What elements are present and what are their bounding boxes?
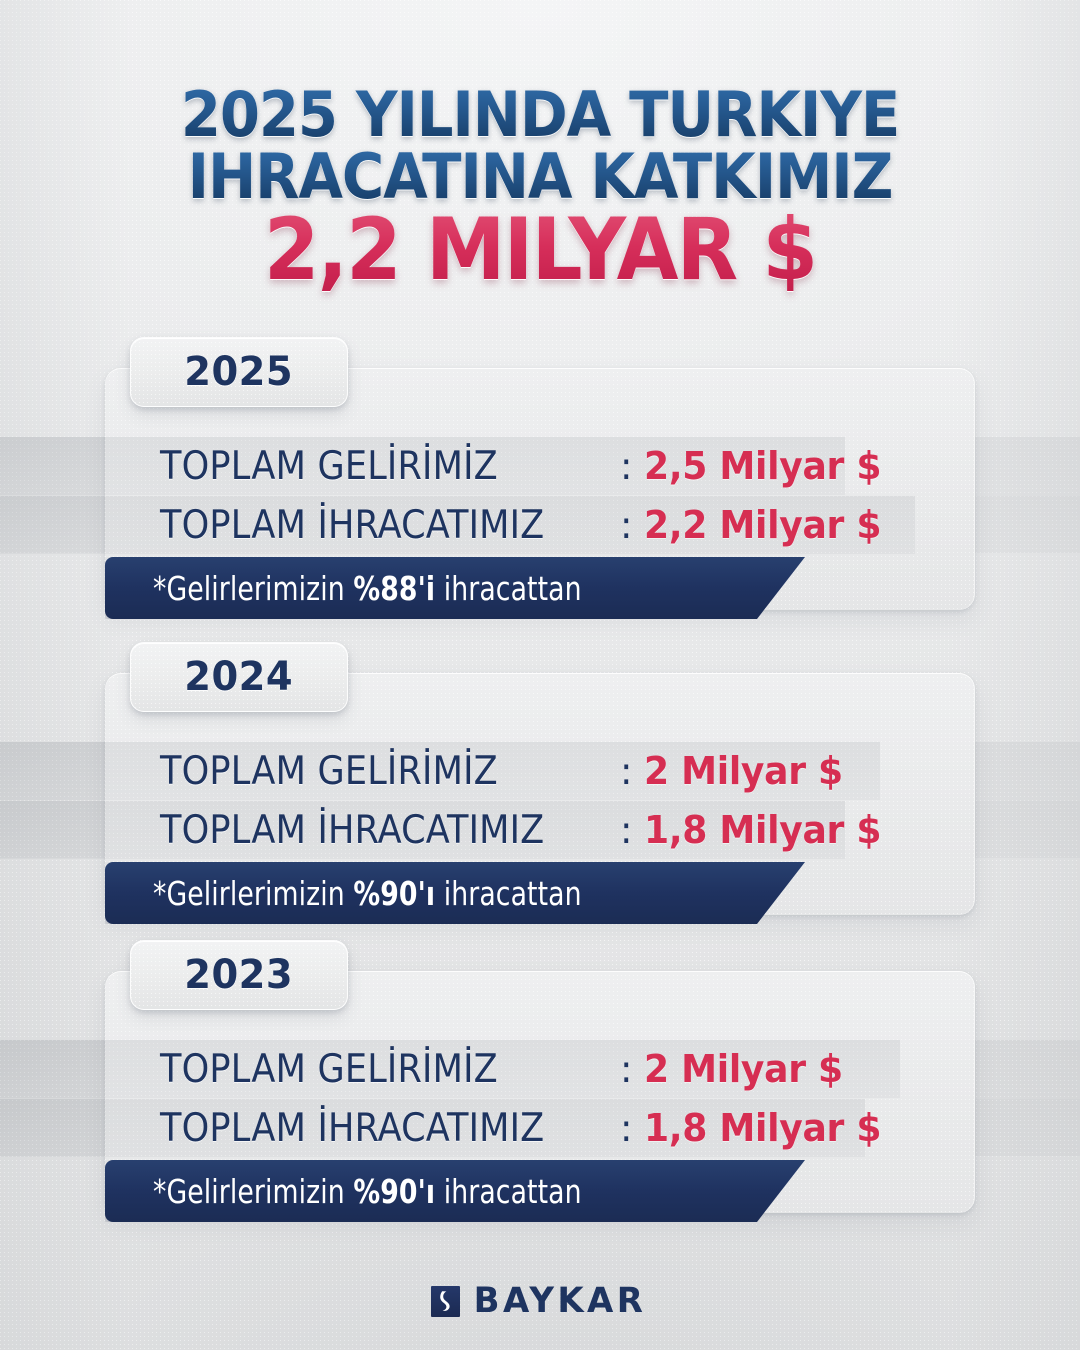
footnote-suffix: ihracattan	[435, 874, 582, 913]
row-value: 1,8 Milyar $	[644, 1106, 881, 1150]
headline-amount: 2,2 MİLYAR $	[82, 211, 997, 291]
footnote-prefix: *Gelirlerimizin	[153, 569, 353, 608]
table-row: TOPLAM GELİRİMİZ : 2 Milyar $	[0, 742, 1080, 800]
footnote-text: *Gelirlerimizin %90'ı ihracattan	[153, 874, 582, 913]
table-row: TOPLAM İHRACATIMIZ : 2,2 Milyar $	[0, 496, 1080, 554]
year-tab-2023: 2023	[130, 940, 348, 1010]
row-value: 1,8 Milyar $	[644, 808, 881, 852]
row-colon: :	[620, 1107, 632, 1150]
row-colon: :	[620, 1048, 632, 1091]
row-label: TOPLAM GELİRİMİZ	[160, 444, 498, 489]
footnote-prefix: *Gelirlerimizin	[153, 874, 353, 913]
row-value: 2,5 Milyar $	[644, 444, 881, 488]
footnote-text: *Gelirlerimizin %88'i ihracattan	[153, 569, 582, 608]
row-colon: :	[620, 504, 632, 547]
headline-line-2: İHRACATINA KATKIMIZ	[82, 148, 997, 206]
row-label: TOPLAM GELİRİMİZ	[160, 1047, 498, 1092]
footnote-text: *Gelirlerimizin %90'ı ihracattan	[153, 1172, 582, 1211]
footnote-suffix: ihracattan	[435, 1172, 582, 1211]
footnote-highlight: %90'ı	[353, 1172, 435, 1211]
footnote-highlight: %88'i	[353, 569, 435, 608]
brand-name: BAYKAR	[474, 1281, 647, 1321]
table-row: TOPLAM İHRACATIMIZ : 1,8 Milyar $	[0, 801, 1080, 859]
table-row: TOPLAM GELİRİMİZ : 2 Milyar $	[0, 1040, 1080, 1098]
row-label: TOPLAM GELİRİMİZ	[160, 749, 498, 794]
row-value: 2 Milyar $	[644, 1047, 843, 1091]
row-colon: :	[620, 809, 632, 852]
year-tab-2024: 2024	[130, 642, 348, 712]
table-row: TOPLAM İHRACATIMIZ : 1,8 Milyar $	[0, 1099, 1080, 1157]
year-label: 2025	[185, 349, 294, 395]
year-label: 2024	[185, 654, 294, 700]
footnote-prefix: *Gelirlerimizin	[153, 1172, 353, 1211]
footnote-highlight: %90'ı	[353, 874, 435, 913]
footnote-banner-2024: *Gelirlerimizin %90'ı ihracattan	[105, 862, 805, 924]
footnote-banner-2023: *Gelirlerimizin %90'ı ihracattan	[105, 1160, 805, 1222]
year-tab-2025: 2025	[130, 337, 348, 407]
row-value: 2,2 Milyar $	[644, 503, 881, 547]
brand-footer: BAYKAR	[0, 1281, 1080, 1321]
baykar-b-mark-icon	[431, 1286, 460, 1317]
table-row: TOPLAM GELİRİMİZ : 2,5 Milyar $	[0, 437, 1080, 495]
row-label: TOPLAM İHRACATIMIZ	[160, 1106, 544, 1151]
row-label: TOPLAM İHRACATIMIZ	[160, 503, 544, 548]
row-colon: :	[620, 750, 632, 793]
row-label: TOPLAM İHRACATIMIZ	[160, 808, 544, 853]
footnote-banner-2025: *Gelirlerimizin %88'i ihracattan	[105, 557, 805, 619]
infographic-page: 2025 YILINDA TÜRKİYE İHRACATINA KATKIMIZ…	[0, 0, 1080, 1350]
footnote-suffix: ihracattan	[435, 569, 582, 608]
headline-line-1: 2025 YILINDA TÜRKİYE	[82, 86, 997, 144]
row-colon: :	[620, 445, 632, 488]
year-label: 2023	[185, 952, 294, 998]
page-title: 2025 YILINDA TÜRKİYE İHRACATINA KATKIMIZ…	[0, 86, 1080, 291]
row-value: 2 Milyar $	[644, 749, 843, 793]
